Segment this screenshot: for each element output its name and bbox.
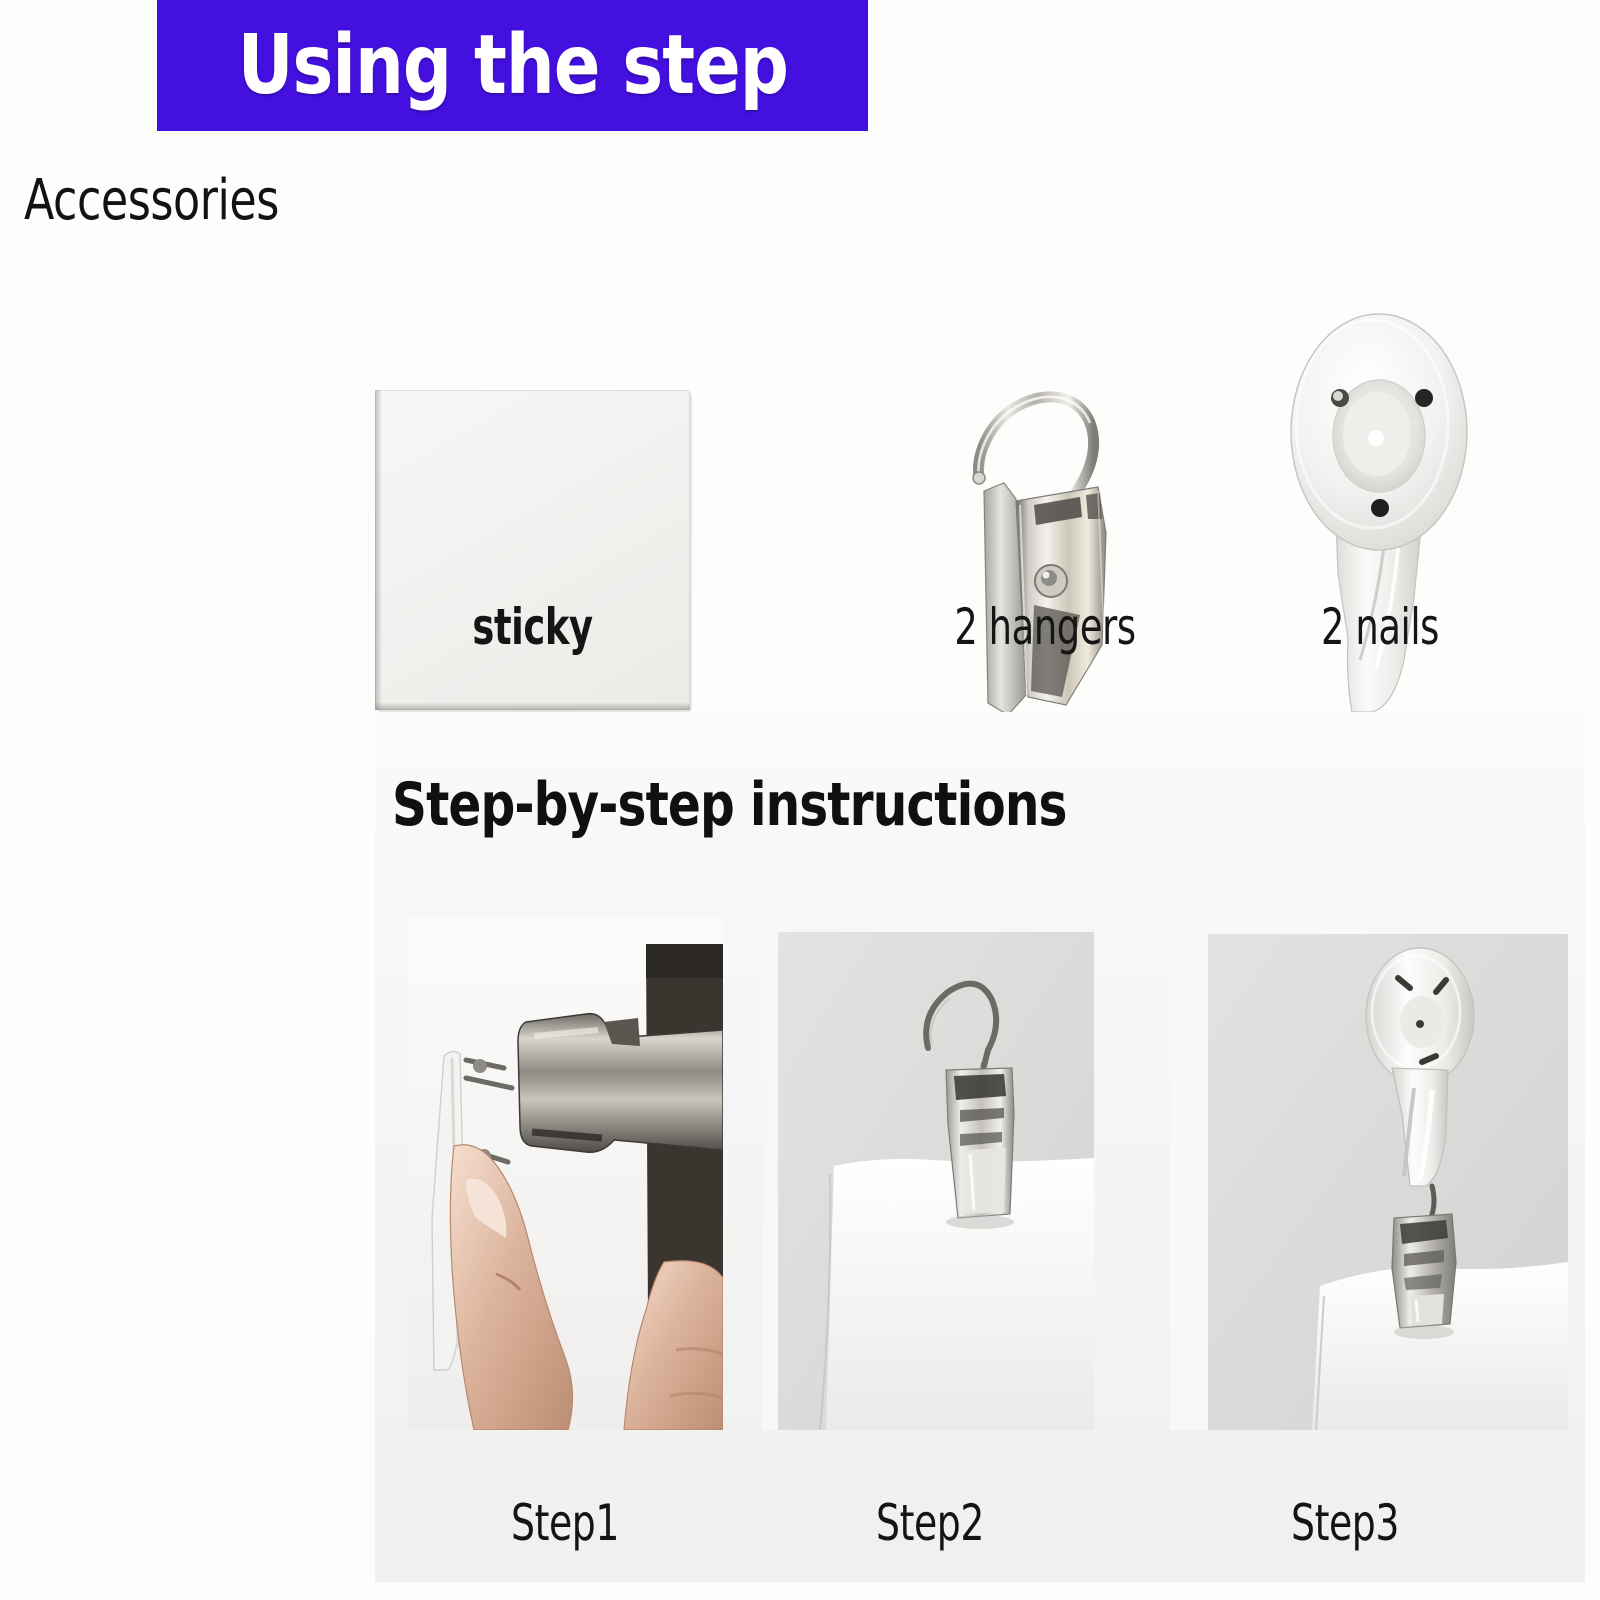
sticky-pad-icon	[375, 390, 690, 710]
page-title: Using the step	[237, 18, 787, 113]
accessories-row	[0, 150, 1600, 670]
step-photo-1	[408, 918, 723, 1430]
accessory-label-nails: 2 nails	[1257, 598, 1503, 656]
accessory-label-hangers: 2 hangers	[910, 598, 1181, 656]
step-label-3: Step3	[1206, 1494, 1483, 1552]
step-label-2: Step2	[791, 1494, 1068, 1552]
title-banner: Using the step	[157, 0, 868, 131]
accessory-label-sticky: sticky	[407, 598, 657, 656]
s-hook-clip-icon	[930, 305, 1160, 725]
wall-hook-icon	[1272, 308, 1492, 720]
infographic-page: Using the step Accessories	[0, 0, 1600, 1600]
step-photo-2	[762, 918, 1094, 1430]
step-photo-3	[1170, 918, 1568, 1430]
instructions-heading: Step-by-step instructions	[392, 770, 1067, 840]
step-label-1: Step1	[431, 1494, 700, 1552]
